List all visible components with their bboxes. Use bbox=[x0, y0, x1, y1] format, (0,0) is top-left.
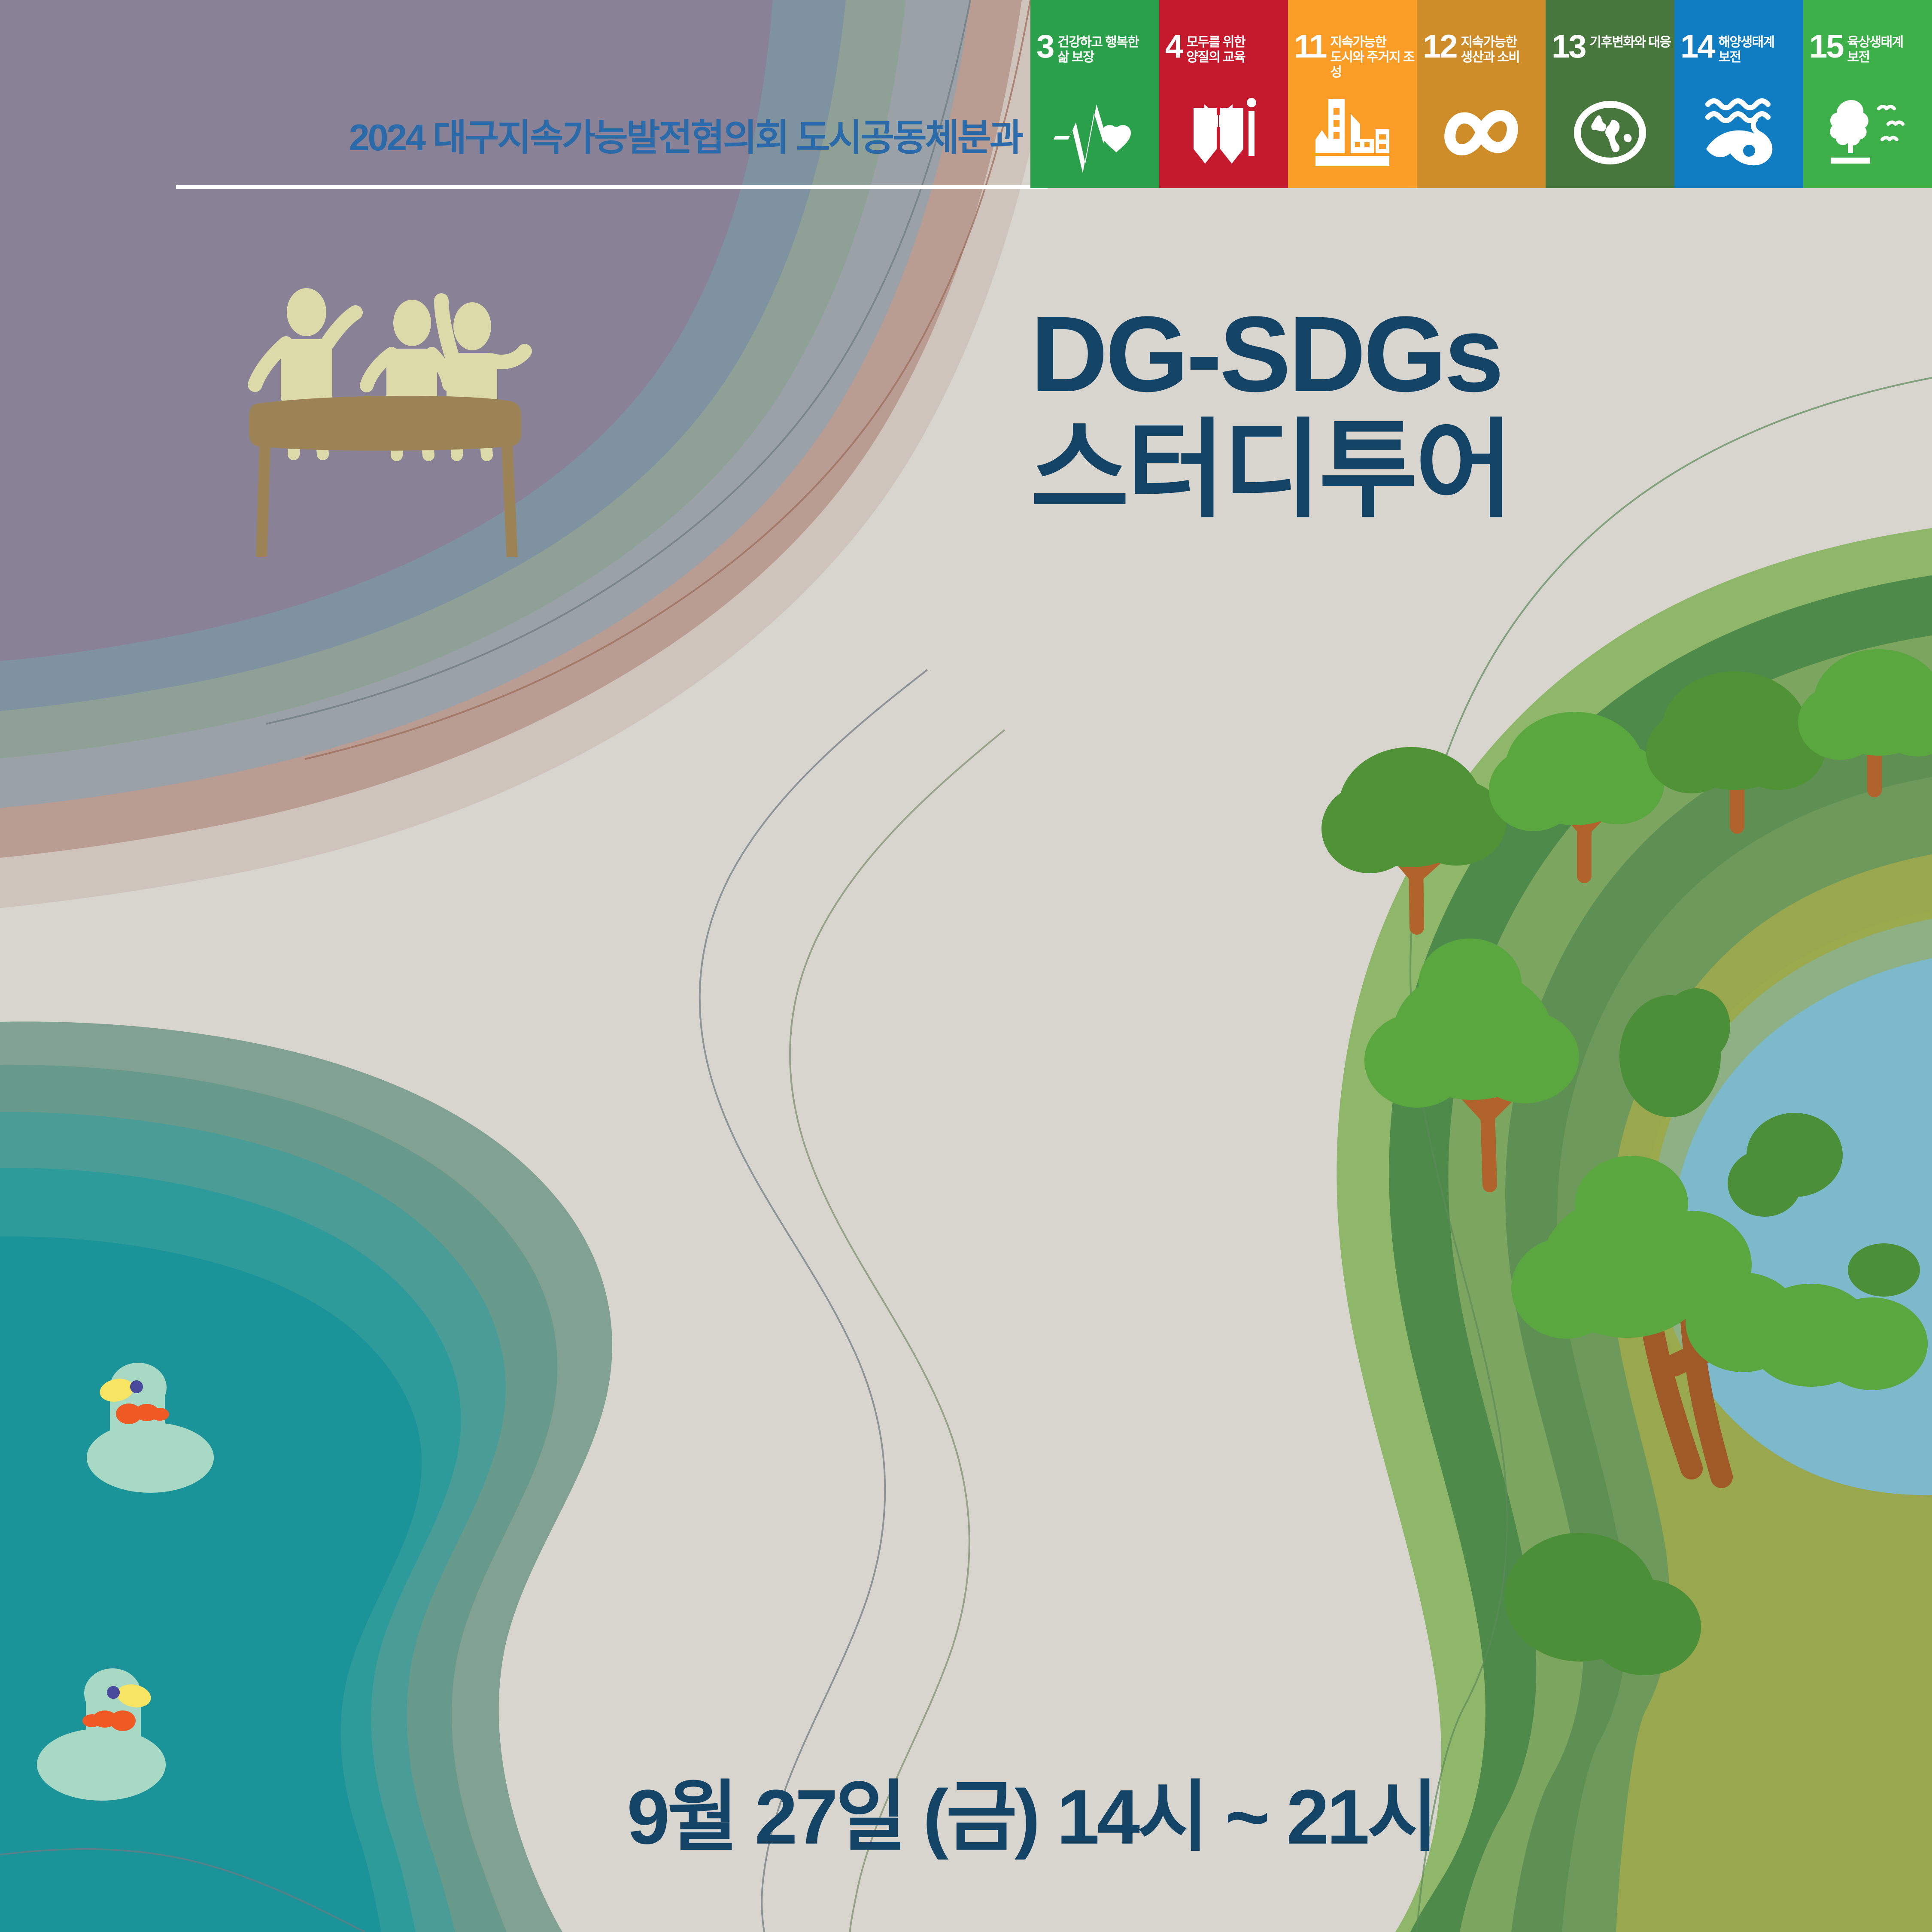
sdg-badge-13-number: 13 bbox=[1552, 33, 1586, 60]
tree-birds-icon bbox=[1825, 93, 1911, 173]
city-buildings-icon bbox=[1309, 93, 1395, 173]
sdg-badge-15-number: 15 bbox=[1809, 33, 1843, 60]
sdg-badge-12-number: 12 bbox=[1423, 33, 1457, 60]
sdg-badge-11: 11 지속가능한 도시와 주거지 조성 bbox=[1288, 0, 1417, 188]
sdg-badge-14-number: 14 bbox=[1680, 33, 1714, 60]
sdg-badge-15-label: 육상생태계 보전 bbox=[1847, 33, 1903, 65]
header-divider bbox=[176, 185, 1048, 189]
sdg-badge-strip: 3 건강하고 행복한 삶 보장 4 모두를 위한 양질의 교육 bbox=[1030, 0, 1932, 188]
poster-canvas: 2024 대구지속가능발전협의회 도시공동체분과 DG-SDGs 스터디투어 9… bbox=[0, 0, 1932, 1932]
main-title-line1: DG-SDGs bbox=[1030, 296, 1511, 412]
sdg-badge-11-label: 지속가능한 도시와 주거지 조성 bbox=[1330, 33, 1417, 80]
sdg-badge-4: 4 모두를 위한 양질의 교육 bbox=[1159, 0, 1288, 188]
event-datetime: 9월 27일 (금) 14시 ~ 21시 bbox=[627, 1754, 1436, 1866]
sdg-badge-12: 12 지속가능한 생산과 소비 bbox=[1417, 0, 1546, 188]
globe-eye-icon bbox=[1567, 93, 1653, 173]
sdg-badge-14-label: 해양생태계 보전 bbox=[1719, 33, 1774, 65]
sdg-badge-12-label: 지속가능한 생산과 소비 bbox=[1461, 33, 1520, 65]
sdg-badge-3-label: 건강하고 행복한 삶 보장 bbox=[1057, 33, 1139, 65]
topographic-background bbox=[0, 0, 1932, 1932]
sdg-badge-13-label: 기후변화와 대응 bbox=[1590, 33, 1671, 50]
header-block: 2024 대구지속가능발전협의회 도시공동체분과 bbox=[0, 107, 1039, 189]
main-title: DG-SDGs 스터디투어 bbox=[1030, 296, 1511, 528]
sdg-badge-4-label: 모두를 위한 양질의 교육 bbox=[1186, 33, 1245, 65]
page-title: 2024 대구지속가능발전협의회 도시공동체분과 bbox=[0, 107, 1039, 161]
sdg-badge-3-number: 3 bbox=[1036, 33, 1053, 60]
infinity-loop-icon bbox=[1438, 93, 1524, 173]
sdg-badge-4-number: 4 bbox=[1165, 33, 1182, 60]
fish-waves-icon bbox=[1696, 93, 1782, 173]
main-title-line2: 스터디투어 bbox=[1030, 412, 1511, 528]
sdg-badge-14: 14 해양생태계 보전 bbox=[1674, 0, 1803, 188]
education-book-icon bbox=[1181, 93, 1267, 173]
sdg-badge-11-number: 11 bbox=[1294, 33, 1326, 60]
sdg-badge-13: 13 기후변화와 대응 bbox=[1546, 0, 1674, 188]
sdg-badge-15: 15 육상생태계 보전 bbox=[1803, 0, 1932, 188]
sdg-badge-3: 3 건강하고 행복한 삶 보장 bbox=[1030, 0, 1159, 188]
health-heartbeat-icon bbox=[1052, 93, 1138, 173]
